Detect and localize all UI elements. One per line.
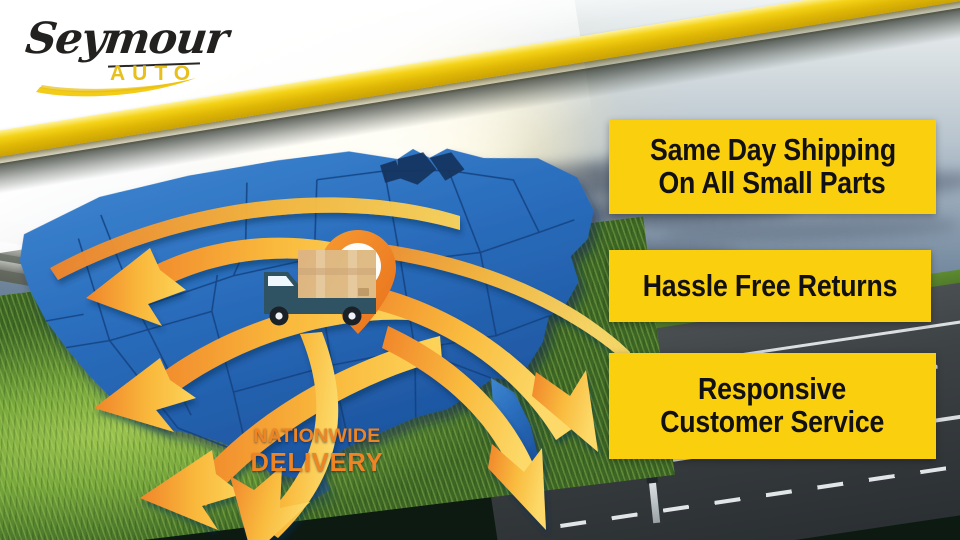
logo-swoosh-icon bbox=[34, 74, 198, 100]
callout-line-1: Same Day Shipping bbox=[650, 134, 896, 167]
callout-box-hassle-free-returns[interactable]: Hassle Free Returns bbox=[609, 250, 931, 322]
callout-line-2: Customer Service bbox=[661, 406, 885, 439]
promo-banner: NATIONWIDE DELIVERY Seymour AUTO Same Da… bbox=[0, 0, 960, 540]
callout-line-1: Responsive bbox=[699, 373, 847, 406]
usa-map-icon bbox=[0, 120, 630, 540]
nationwide-delivery-caption: NATIONWIDE DELIVERY bbox=[247, 427, 387, 476]
caption-line-2: DELIVERY bbox=[247, 451, 387, 477]
callout-box-responsive-customer-service[interactable]: Responsive Customer Service bbox=[609, 353, 936, 459]
callout-line-1: Hassle Free Returns bbox=[643, 270, 898, 303]
nationwide-delivery-graphic: NATIONWIDE DELIVERY bbox=[0, 120, 630, 540]
logo-wordmark-script: Seymour bbox=[23, 14, 230, 64]
caption-line-1: NATIONWIDE bbox=[247, 427, 387, 447]
callout-box-same-day-shipping[interactable]: Same Day Shipping On All Small Parts bbox=[609, 120, 936, 214]
callout-line-2: On All Small Parts bbox=[659, 167, 886, 200]
brand-logo[interactable]: Seymour AUTO bbox=[16, 12, 226, 104]
